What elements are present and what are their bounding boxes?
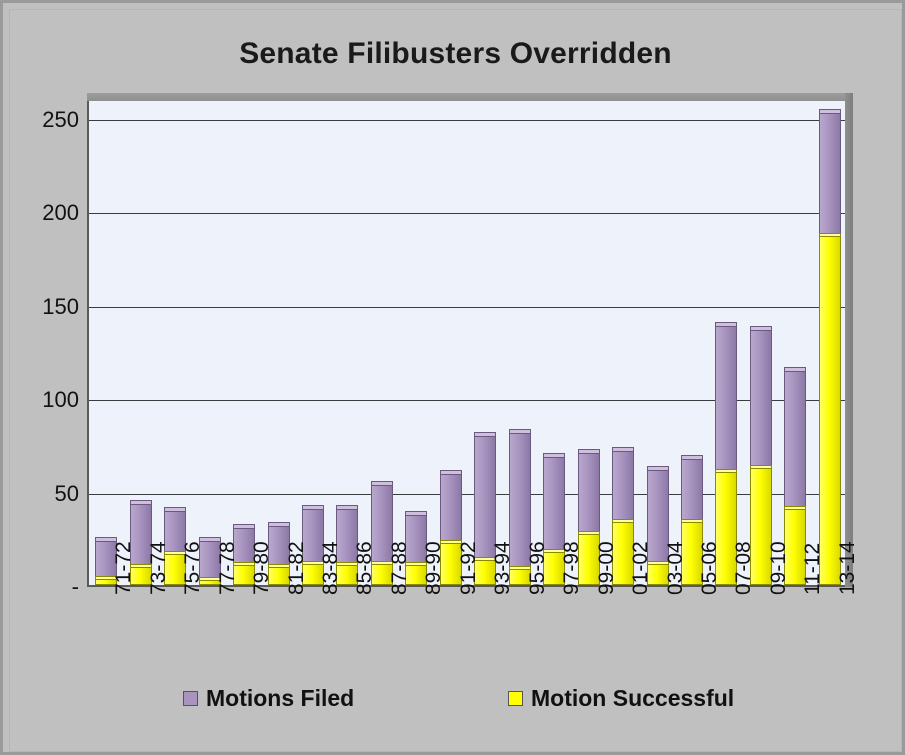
- y-axis-tick-label: 50: [9, 481, 79, 507]
- chart-frame: Senate Filibusters Overridden -501001502…: [0, 0, 905, 755]
- bar-group[interactable]: [474, 99, 496, 585]
- x-axis-tick-label: 73-74: [147, 541, 171, 595]
- bar-group[interactable]: [268, 99, 290, 585]
- x-axis-tick-label: 81-82: [285, 541, 309, 595]
- bar-group[interactable]: [130, 99, 152, 585]
- bar-group[interactable]: [750, 99, 772, 585]
- bar-motion-successful-cap: [715, 469, 737, 473]
- plot-area: [87, 101, 845, 587]
- x-axis-tick-label: 83-84: [319, 541, 343, 595]
- x-axis-tick-label: 75-76: [181, 541, 205, 595]
- bar-motions-filed-cap: [681, 455, 703, 460]
- y-axis-tick-label: 200: [9, 200, 79, 226]
- bar-motions-filed-cap: [130, 500, 152, 505]
- bar-group[interactable]: [233, 99, 255, 585]
- bar-group[interactable]: [509, 99, 531, 585]
- x-axis-tick-label: 99-00: [595, 541, 619, 595]
- bar-motions-filed-cap: [474, 432, 496, 437]
- x-axis-tick-label: 79-80: [250, 541, 274, 595]
- y-axis-tick-label: 150: [9, 294, 79, 320]
- bar-motions-filed-cap: [578, 449, 600, 454]
- bar-motion-successful-cap: [819, 233, 841, 237]
- bar-motions-filed-cap: [440, 470, 462, 475]
- x-axis-tick-label: 01-02: [629, 541, 653, 595]
- bar-motions-filed-cap: [750, 326, 772, 331]
- bar-motions-filed-cap: [543, 453, 565, 458]
- bar-group[interactable]: [164, 99, 186, 585]
- x-axis-tick-label: 87-88: [388, 541, 412, 595]
- bar-motions-filed-cap: [336, 505, 358, 510]
- bar-group[interactable]: [681, 99, 703, 585]
- bar-motion-successful-cap: [784, 506, 806, 510]
- chart-title: Senate Filibusters Overridden: [3, 37, 905, 71]
- bar-motions-filed-cap: [371, 481, 393, 486]
- plot-right-shadow: [845, 93, 853, 587]
- x-axis-tick-label: 07-08: [732, 541, 756, 595]
- bar-motions-filed-cap: [164, 507, 186, 512]
- bar-motions-filed-cap: [509, 429, 531, 434]
- x-axis-tick-label: 91-92: [457, 541, 481, 595]
- x-axis-tick-label: 71-72: [112, 541, 136, 595]
- bar-motions-filed-cap: [302, 505, 324, 510]
- bar-group[interactable]: [612, 99, 634, 585]
- x-axis-tick-label: 09-10: [767, 541, 791, 595]
- bar-motions-filed-cap: [612, 447, 634, 452]
- bar-group[interactable]: [440, 99, 462, 585]
- bar-group[interactable]: [819, 99, 841, 585]
- bar-group[interactable]: [336, 99, 358, 585]
- bar-motions-filed-cap: [268, 522, 290, 527]
- x-axis-tick-label: 93-94: [491, 541, 515, 595]
- bar-group[interactable]: [302, 99, 324, 585]
- legend-item-motions-filed[interactable]: Motions Filed: [183, 685, 354, 712]
- square-swatch-purple-icon: [183, 691, 198, 706]
- bar-motions-filed-cap: [784, 367, 806, 372]
- chart-legend: Motions Filed Motion Successful: [3, 685, 905, 715]
- x-axis-tick-label: 03-04: [664, 541, 688, 595]
- square-swatch-yellow-icon: [508, 691, 523, 706]
- y-axis-tick-label: 100: [9, 387, 79, 413]
- bar-motion-successful-cap: [578, 531, 600, 535]
- bar-motions-filed-cap: [715, 322, 737, 327]
- bar-motions-filed-cap: [647, 466, 669, 471]
- legend-item-motion-successful[interactable]: Motion Successful: [508, 685, 734, 712]
- bar-group[interactable]: [405, 99, 427, 585]
- bar-motions-filed-cap: [819, 109, 841, 114]
- x-axis-tick-label: 77-78: [216, 541, 240, 595]
- bar-group[interactable]: [647, 99, 669, 585]
- bar-motions-filed-cap: [233, 524, 255, 529]
- x-axis-tick-label: 89-90: [422, 541, 446, 595]
- bar-group[interactable]: [715, 99, 737, 585]
- x-axis-tick-label: 95-96: [526, 541, 550, 595]
- bar-group[interactable]: [95, 99, 117, 585]
- legend-label-motion-successful: Motion Successful: [531, 685, 734, 712]
- bar-motion-successful-cap: [681, 519, 703, 523]
- bar-group[interactable]: [371, 99, 393, 585]
- x-axis-tick-label: 97-98: [560, 541, 584, 595]
- y-axis-tick-label: -: [9, 574, 79, 600]
- bar-group[interactable]: [784, 99, 806, 585]
- bar-motion-successful[interactable]: [819, 235, 841, 585]
- bar-group[interactable]: [578, 99, 600, 585]
- bar-motion-successful-cap: [612, 519, 634, 523]
- bar-motion-successful-cap: [750, 465, 772, 469]
- x-axis-tick-label: 85-86: [353, 541, 377, 595]
- bar-group[interactable]: [199, 99, 221, 585]
- x-axis-tick-label: 05-06: [698, 541, 722, 595]
- y-axis-tick-label: 250: [9, 107, 79, 133]
- bar-motions-filed-cap: [405, 511, 427, 516]
- bar-group[interactable]: [543, 99, 565, 585]
- legend-label-motions-filed: Motions Filed: [206, 685, 354, 712]
- x-axis-tick-label: 11-12: [801, 543, 825, 595]
- y-axis-labels: -50100150200250: [3, 101, 79, 587]
- x-axis-tick-label: 13-14: [836, 541, 860, 595]
